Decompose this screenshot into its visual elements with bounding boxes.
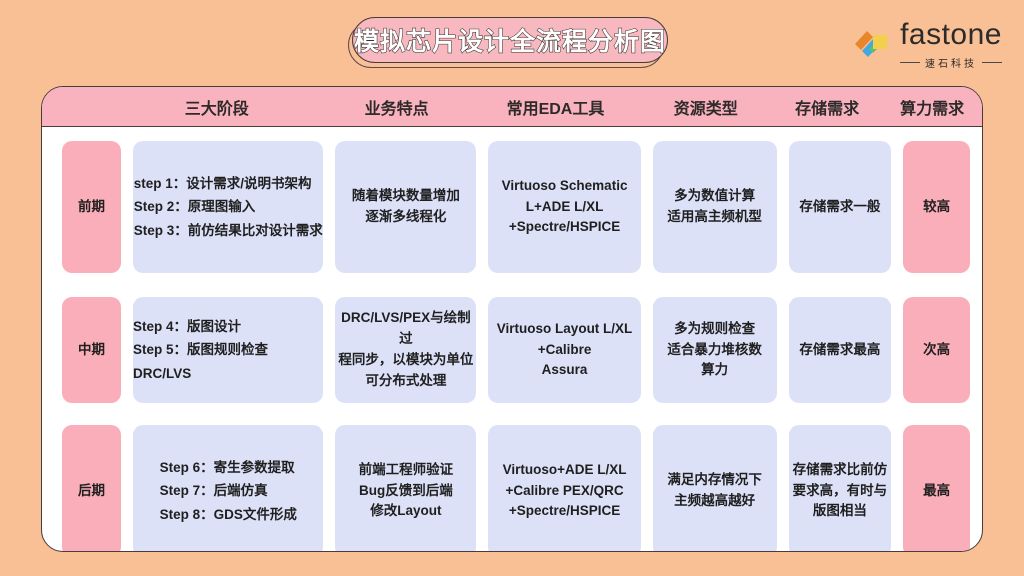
cell-storage-demand: 存储需求比前仿要求高，有时与版图相当 xyxy=(789,425,892,552)
cell-eda-tools-line: +Spectre/HSPICE xyxy=(502,217,628,238)
cell-storage-demand-line: 要求高，有时与 xyxy=(793,481,888,502)
cell-steps-line: Step 5：版图规则检查 DRC/LVS xyxy=(133,338,323,385)
cell-feature: 随着模块数量增加逐渐多线程化 xyxy=(335,141,476,273)
cell-feature-text: 前端工程师验证Bug反馈到后端修改Layout xyxy=(359,460,454,523)
cell-feature: 前端工程师验证Bug反馈到后端修改Layout xyxy=(335,425,476,552)
cell-resource-type: 多为规则检查适合暴力堆核数算力 xyxy=(653,297,777,403)
cell-eda-tools-line: +Calibre PEX/QRC xyxy=(503,481,627,502)
table-header-compute-demand: 算力需求 xyxy=(882,95,982,119)
brand-logo: fastone 速石科技 xyxy=(853,20,1002,70)
table-header-storage-demand: 存储需求 xyxy=(772,95,882,119)
cell-feature-line: 随着模块数量增加 xyxy=(352,186,460,207)
table-header-eda-tools: 常用EDA工具 xyxy=(472,95,640,119)
cell-resource-type-line: 多为数值计算 xyxy=(667,186,762,207)
cell-feature-line: Bug反馈到后端 xyxy=(359,481,454,502)
cell-resource-type-line: 主频越高越好 xyxy=(667,491,762,512)
cell-storage-demand-line: 存储需求最高 xyxy=(799,340,880,361)
cell-resource-type: 多为数值计算适用高主频机型 xyxy=(653,141,777,273)
cell-steps: step 1：设计需求/说明书架构Step 2：原理图输入Step 3：前仿结果… xyxy=(133,141,323,273)
cell-stage-后期-text: 后期 xyxy=(78,481,105,502)
cell-steps-text: Step 4：版图设计Step 5：版图规则检查 DRC/LVS xyxy=(133,315,323,386)
cell-eda-tools-text: Virtuoso Layout L/XL+CalibreAssura xyxy=(497,319,633,382)
cell-resource-type-line: 满足内存情况下 xyxy=(667,470,762,491)
table-row: 前期step 1：设计需求/说明书架构Step 2：原理图输入Step 3：前仿… xyxy=(42,141,982,273)
cell-feature-line: 逐渐多线程化 xyxy=(352,207,460,228)
cell-resource-type-line: 多为规则检查 xyxy=(667,319,762,340)
cell-resource-type: 满足内存情况下主频越高越好 xyxy=(653,425,777,552)
table-body: 前期step 1：设计需求/说明书架构Step 2：原理图输入Step 3：前仿… xyxy=(42,141,982,552)
cell-resource-type-text: 多为规则检查适合暴力堆核数算力 xyxy=(667,319,762,382)
cell-compute-demand: 较高 xyxy=(903,141,970,273)
cell-steps-line: step 1：设计需求/说明书架构 xyxy=(134,172,323,196)
cell-compute-demand-text: 次高 xyxy=(923,340,950,361)
cell-steps-line: Step 2：原理图输入 xyxy=(134,195,323,219)
cell-stage-中期: 中期 xyxy=(62,297,121,403)
cell-storage-demand: 存储需求最高 xyxy=(789,297,892,403)
cell-steps-text: step 1：设计需求/说明书架构Step 2：原理图输入Step 3：前仿结果… xyxy=(134,172,323,243)
cell-resource-type-text: 满足内存情况下主频越高越好 xyxy=(667,470,762,512)
cell-feature-line: DRC/LVS/PEX与绘制过 xyxy=(335,308,476,350)
page-title: 模拟芯片设计全流程分析图 xyxy=(354,22,666,58)
cell-eda-tools-text: Virtuoso SchematicL+ADE L/XL+Spectre/HSP… xyxy=(502,176,628,239)
cell-eda-tools-line: Assura xyxy=(497,360,633,381)
cell-eda-tools-line: +Spectre/HSPICE xyxy=(503,501,627,522)
cell-storage-demand-line: 存储需求比前仿 xyxy=(793,460,888,481)
cell-steps-line: Step 8：GDS文件形成 xyxy=(160,503,297,527)
cell-steps-text: Step 6：寄生参数提取Step 7：后端仿真Step 8：GDS文件形成 xyxy=(160,456,297,527)
cell-compute-demand-text: 最高 xyxy=(923,481,950,502)
cell-eda-tools: Virtuoso SchematicL+ADE L/XL+Spectre/HSP… xyxy=(488,141,640,273)
cell-steps-line: Step 7：后端仿真 xyxy=(160,479,297,503)
cell-storage-demand-line: 存储需求一般 xyxy=(799,197,880,218)
table-header-row: 三大阶段 业务特点 常用EDA工具 资源类型 存储需求 算力需求 xyxy=(42,87,982,127)
cell-steps-line: Step 3：前仿结果比对设计需求 xyxy=(134,219,323,243)
cell-resource-type-line: 算力 xyxy=(667,360,762,381)
cell-steps: Step 4：版图设计Step 5：版图规则检查 DRC/LVS xyxy=(133,297,323,403)
cell-feature-line: 可分布式处理 xyxy=(335,371,476,392)
cell-eda-tools-line: Virtuoso+ADE L/XL xyxy=(503,460,627,481)
cell-resource-type-line: 适用高主频机型 xyxy=(667,207,762,228)
cell-eda-tools: Virtuoso+ADE L/XL+Calibre PEX/QRC+Spectr… xyxy=(488,425,640,552)
cell-storage-demand-text: 存储需求一般 xyxy=(799,197,880,218)
cell-feature-text: DRC/LVS/PEX与绘制过程同步，以模块为单位可分布式处理 xyxy=(335,308,476,392)
cell-storage-demand-text: 存储需求最高 xyxy=(799,340,880,361)
cell-eda-tools-line: Virtuoso Layout L/XL xyxy=(497,319,633,340)
logo-mark-icon xyxy=(853,27,891,63)
logo-rule-right xyxy=(982,62,1002,63)
cell-stage-中期-text: 中期 xyxy=(78,340,105,361)
cell-compute-demand-text: 较高 xyxy=(923,197,950,218)
table-header-resource-type: 资源类型 xyxy=(639,95,772,119)
cell-stage-后期: 后期 xyxy=(62,425,121,552)
cell-eda-tools-line: Virtuoso Schematic xyxy=(502,176,628,197)
cell-steps-line: Step 6：寄生参数提取 xyxy=(160,456,297,480)
cell-compute-demand: 次高 xyxy=(903,297,970,403)
table-row: 中期Step 4：版图设计Step 5：版图规则检查 DRC/LVSDRC/LV… xyxy=(42,297,982,403)
cell-feature-text: 随着模块数量增加逐渐多线程化 xyxy=(352,186,460,228)
table-row: 后期Step 6：寄生参数提取Step 7：后端仿真Step 8：GDS文件形成… xyxy=(42,425,982,552)
cell-storage-demand-text: 存储需求比前仿要求高，有时与版图相当 xyxy=(793,460,888,523)
cell-eda-tools-text: Virtuoso+ADE L/XL+Calibre PEX/QRC+Spectr… xyxy=(503,460,627,523)
cell-steps: Step 6：寄生参数提取Step 7：后端仿真Step 8：GDS文件形成 xyxy=(133,425,323,552)
logo-wordmark: fastone xyxy=(900,20,1002,50)
cell-eda-tools: Virtuoso Layout L/XL+CalibreAssura xyxy=(488,297,640,403)
cell-feature-line: 程同步，以模块为单位 xyxy=(335,350,476,371)
cell-feature-line: 前端工程师验证 xyxy=(359,460,454,481)
cell-compute-demand: 最高 xyxy=(903,425,970,552)
cell-stage-前期-text: 前期 xyxy=(78,197,105,218)
cell-feature-line: 修改Layout xyxy=(359,501,454,522)
cell-storage-demand-line: 版图相当 xyxy=(793,501,888,522)
cell-stage-前期: 前期 xyxy=(62,141,121,273)
logo-subtitle: 速石科技 xyxy=(925,55,977,70)
analysis-table-card: 三大阶段 业务特点 常用EDA工具 资源类型 存储需求 算力需求 前期step … xyxy=(41,86,983,552)
table-header-feature: 业务特点 xyxy=(322,95,472,119)
cell-eda-tools-line: L+ADE L/XL xyxy=(502,197,628,218)
cell-eda-tools-line: +Calibre xyxy=(497,340,633,361)
logo-rule-left xyxy=(900,62,920,63)
table-header-stage: 三大阶段 xyxy=(112,95,322,119)
cell-resource-type-text: 多为数值计算适用高主频机型 xyxy=(667,186,762,228)
cell-feature: DRC/LVS/PEX与绘制过程同步，以模块为单位可分布式处理 xyxy=(335,297,476,403)
cell-resource-type-line: 适合暴力堆核数 xyxy=(667,340,762,361)
page-title-badge: 模拟芯片设计全流程分析图 xyxy=(352,17,668,63)
cell-steps-line: Step 4：版图设计 xyxy=(133,315,323,339)
cell-storage-demand: 存储需求一般 xyxy=(789,141,892,273)
logo-subtitle-row: 速石科技 xyxy=(900,55,1002,70)
